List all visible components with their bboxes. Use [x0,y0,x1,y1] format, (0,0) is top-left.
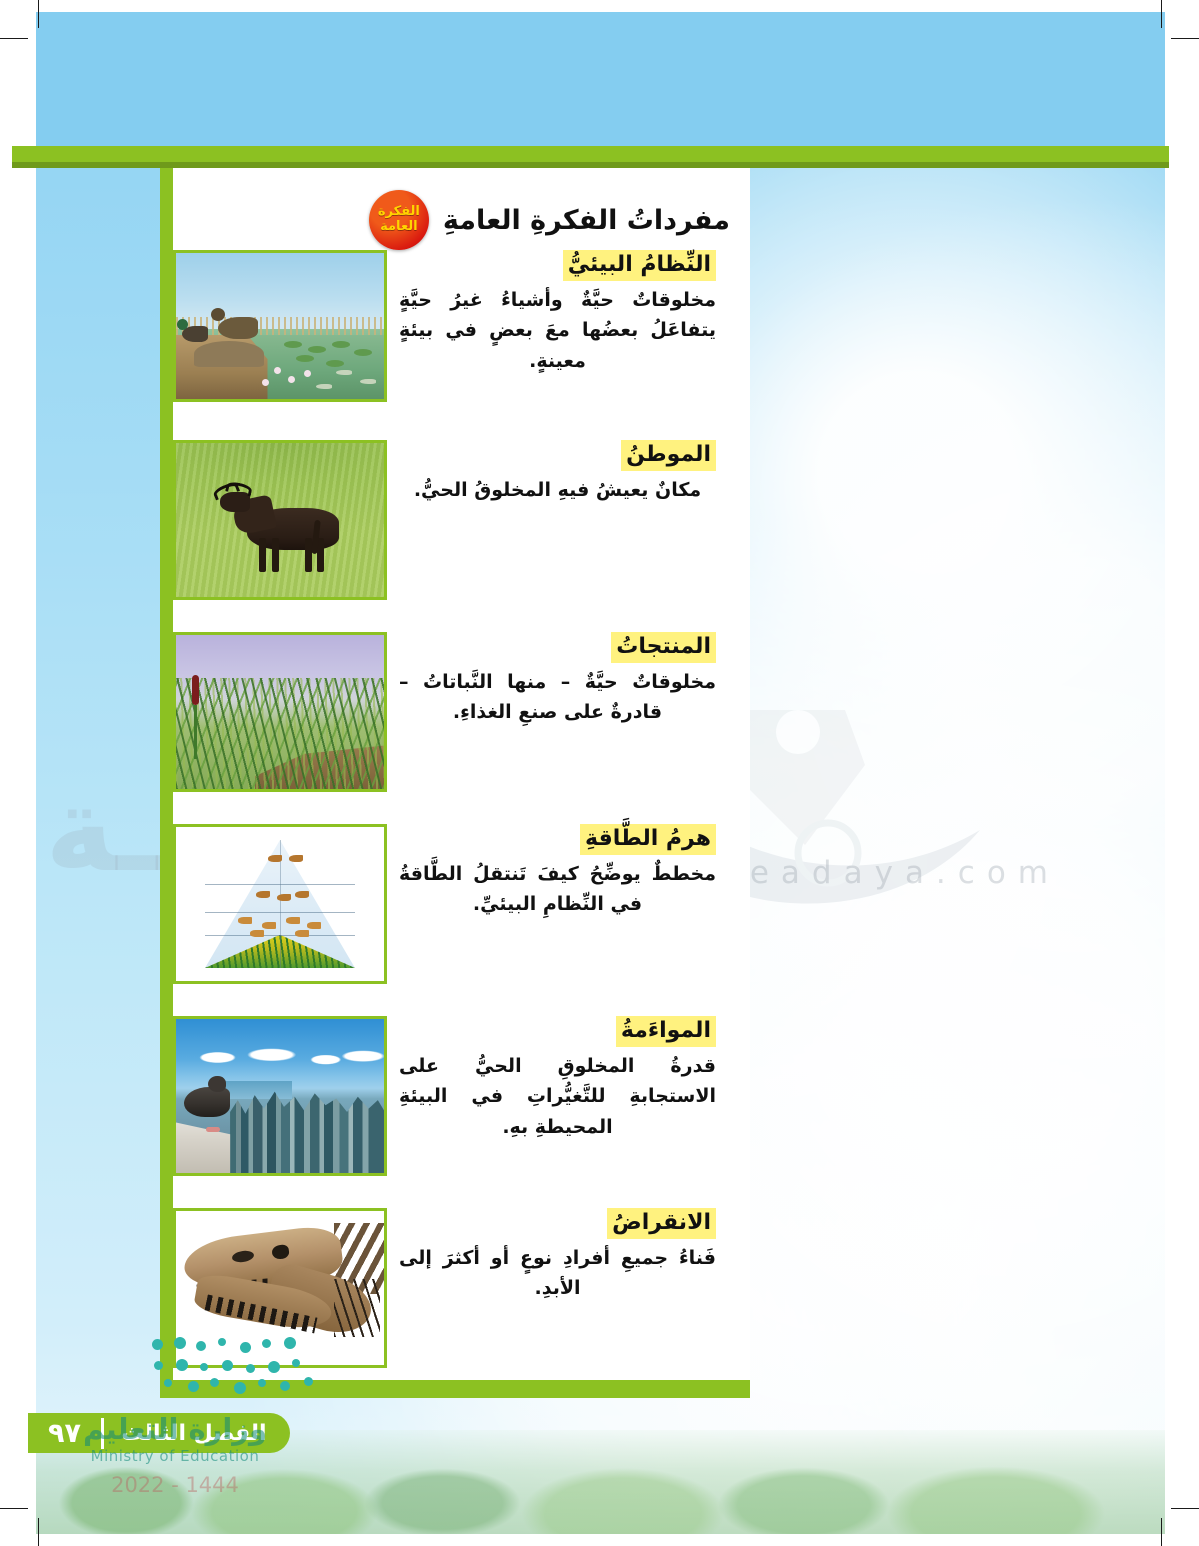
ministry-years: 2022 - 1444 [55,1473,295,1497]
entry-text-energy-pyramid: هرمُ الطَّاقةِ مخططٌ يوضِّحُ كيفَ تَنتقل… [387,824,732,1000]
vocabulary-entry-habitat: الموطنُ مكانٌ يعيشُ فيهِ المخلوقُ الحيُّ… [173,440,750,616]
badge-line-2: العامة [380,220,418,235]
term-adaptation: المواءَمةُ [616,1016,716,1047]
image-pond-ecosystem [173,250,387,402]
term-habitat: الموطنُ [621,440,716,471]
term-extinction: الانقراضُ [607,1208,716,1239]
crop-mark-top-left-h [0,38,28,39]
definition-habitat: مكانٌ يعيشُ فيهِ المخلوقُ الحيُّ. [399,475,716,506]
term-ecosystem: النِّظامُ البيئيُّ [563,250,716,281]
energy-pyramid-artwork [176,827,384,981]
vocabulary-list: النِّظامُ البيئيُّ مخلوقاتٌ حيَّةٌ وأشيا… [173,250,750,1398]
crop-mark-top-left-v [38,0,39,28]
ministry-logo-watermark: وزارة التعليم Ministry of Education 2022… [55,1415,295,1481]
definition-ecosystem: مخلوقاتٌ حيَّةٌ وأشياءُ غيرُ حيَّةٍ يتفا… [399,285,716,377]
entry-text-producers: المنتجاتُ مخلوقاتٌ حيَّةٌ – منها النَّبا… [387,632,732,808]
crop-mark-bottom-right-v [1161,1518,1162,1546]
sky-top-band [36,12,1165,152]
pigeon-city-artwork [176,1019,384,1173]
entry-text-extinction: الانقراضُ فَناءُ جميعِ أفرادِ نوعٍ أو أك… [387,1208,732,1384]
term-energy-pyramid: هرمُ الطَّاقةِ [580,824,716,855]
entry-text-adaptation: المواءَمةُ قدرةُ المخلوقِ الحيُّ على الا… [387,1016,732,1192]
vocabulary-entry-ecosystem: النِّظامُ البيئيُّ مخلوقاتٌ حيَّةٌ وأشيا… [173,250,750,426]
entry-text-ecosystem: النِّظامُ البيئيُّ مخلوقاتٌ حيَّةٌ وأشيا… [387,250,732,426]
term-producers: المنتجاتُ [611,632,716,663]
badge-line-1: الفكرة [378,205,420,220]
vocabulary-entry-producers: المنتجاتُ مخلوقاتٌ حيَّةٌ – منها النَّبا… [173,632,750,808]
vocabulary-entry-adaptation: المواءَمةُ قدرةُ المخلوقِ الحيُّ على الا… [173,1016,750,1192]
big-idea-badge-icon: الفكرة العامة [369,190,429,250]
crop-mark-top-right-h [1171,38,1199,39]
image-pigeon-city [173,1016,387,1176]
crop-mark-bottom-right-h [1171,1508,1199,1509]
vocabulary-entry-energy-pyramid: هرمُ الطَّاقةِ مخططٌ يوضِّحُ كيفَ تَنتقل… [173,824,750,1000]
crop-mark-bottom-left-h [0,1508,28,1509]
image-reeds-cattails [173,632,387,792]
definition-adaptation: قدرةُ المخلوقِ الحيُّ على الاستجابةِ للت… [399,1051,716,1143]
pond-ecosystem-artwork [176,253,384,399]
crop-mark-bottom-left-v [38,1518,39,1546]
top-green-bar [12,146,1169,162]
wildebeest-grassland-artwork [176,443,384,597]
definition-producers: مخلوقاتٌ حيَّةٌ – منها النَّباتاتُ – قاد… [399,667,716,729]
definition-extinction: فَناءُ جميعِ أفرادِ نوعٍ أو أكثرَ إلى ال… [399,1243,716,1305]
ministry-name-latin: Ministry of Education [55,1447,295,1465]
crop-mark-top-right-v [1161,0,1162,28]
page-title: مفرداتُ الفكرةِ العامةِ [443,205,730,236]
image-wildebeest-grassland [173,440,387,600]
image-energy-pyramid [173,824,387,984]
content-panel: مفرداتُ الفكرةِ العامةِ الفكرة العامة ال… [160,168,750,1398]
section-header: مفرداتُ الفكرةِ العامةِ الفكرة العامة [369,190,730,250]
teal-dots-decoration [150,1335,340,1397]
definition-energy-pyramid: مخططٌ يوضِّحُ كيفَ تَنتقلُ الطَّاقةُ في … [399,859,716,921]
textbook-page: موقع بدايـة التعليمي beadaya.com مفرداتُ… [0,0,1199,1546]
ministry-name-arabic: وزارة التعليم [55,1415,295,1444]
entry-text-habitat: الموطنُ مكانٌ يعيشُ فيهِ المخلوقُ الحيُّ… [387,440,732,616]
reeds-cattails-artwork [176,635,384,789]
